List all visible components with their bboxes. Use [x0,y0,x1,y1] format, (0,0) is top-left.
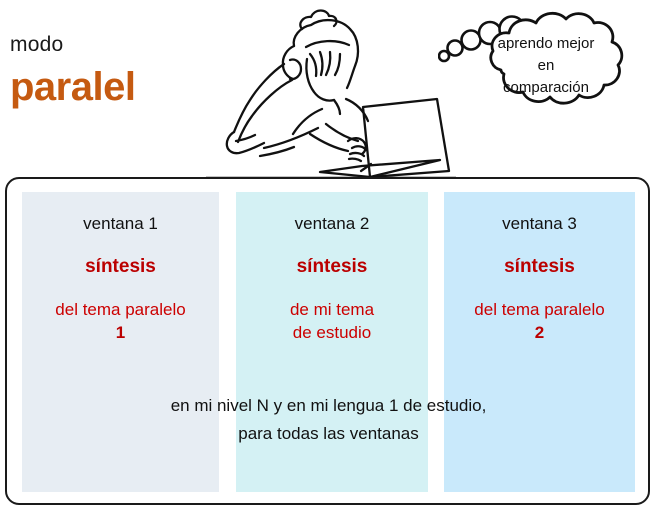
window-heading-1: síntesis [22,257,219,276]
window-desc-1: del tema paralelo 1 [22,298,219,345]
person-studying-illustration [206,2,456,180]
window-desc-1-line-1: del tema paralelo [22,298,219,321]
window-panel-2[interactable]: ventana 2 síntesis de mi tema de estudio [236,192,428,492]
page-title: paralel [10,67,135,107]
window-panel-1[interactable]: ventana 1 síntesis del tema paralelo 1 [22,192,219,492]
window-desc-2-line-2: de estudio [236,321,428,344]
window-heading-3: síntesis [444,257,635,276]
window-heading-2: síntesis [236,257,428,276]
window-label-1: ventana 1 [22,215,219,232]
bubble-line-2: en [460,55,632,77]
window-desc-3-line-2: 2 [444,321,635,344]
window-label-2: ventana 2 [236,215,428,232]
windows-panel-group: ventana 1 síntesis del tema paralelo 1 v… [22,192,635,492]
window-desc-2: de mi tema de estudio [236,298,428,345]
thought-bubble-text: aprendo mejor en comparación [460,33,632,98]
window-desc-2-line-1: de mi tema [236,298,428,321]
slide-canvas: modo paralel [0,0,657,512]
window-desc-1-line-2: 1 [22,321,219,344]
window-desc-3: del tema paralelo 2 [444,298,635,345]
window-panel-3[interactable]: ventana 3 síntesis del tema paralelo 2 [444,192,635,492]
bubble-line-1: aprendo mejor [460,33,632,55]
header-kicker: modo [10,34,63,55]
bubble-line-3: comparación [460,77,632,99]
window-label-3: ventana 3 [444,215,635,232]
window-desc-3-line-1: del tema paralelo [444,298,635,321]
